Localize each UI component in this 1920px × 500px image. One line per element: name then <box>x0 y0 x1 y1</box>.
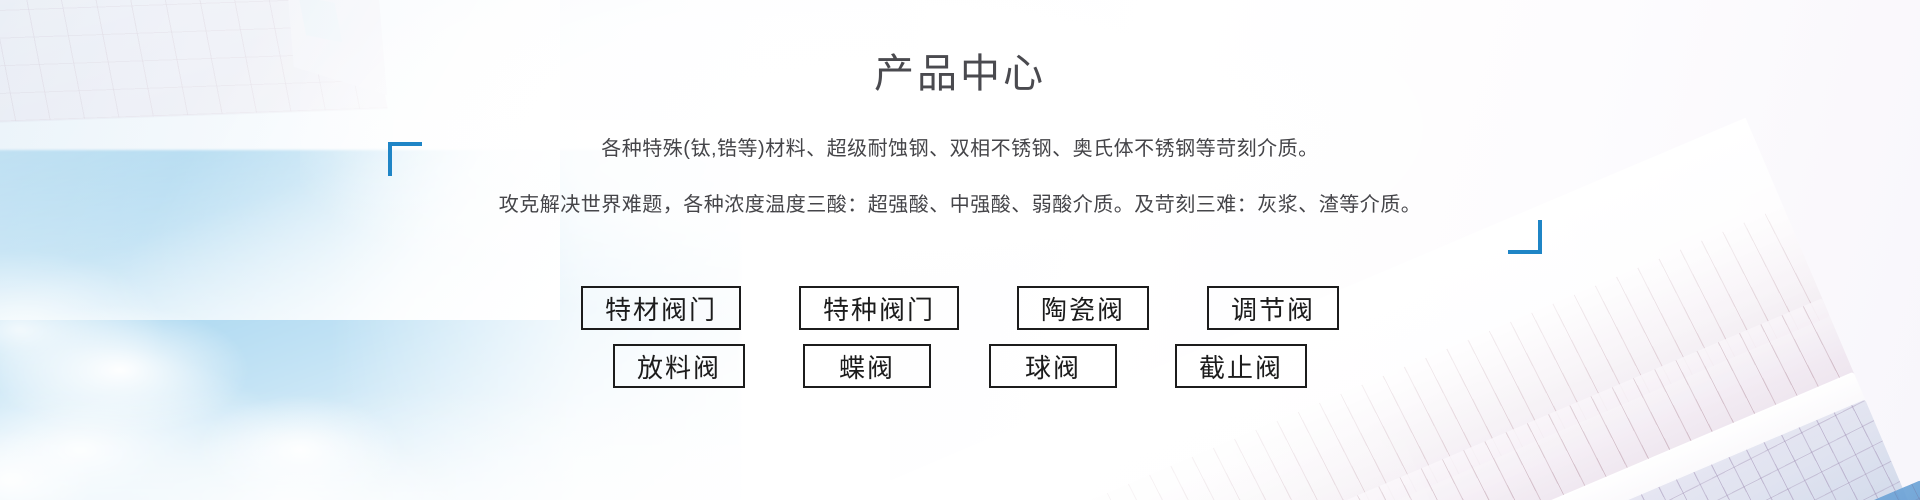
description-line-2: 攻克解决世界难题，各种浓度温度三酸：超强酸、中强酸、弱酸介质。及苛刻三难：灰浆、… <box>360 190 1560 220</box>
page-title: 产品中心 <box>0 50 1920 98</box>
description-block: 各种特殊(钛,锆等)材料、超级耐蚀钢、双相不锈钢、奥氏体不锈钢等苛刻介质。 攻克… <box>360 128 1560 220</box>
banner-content: 产品中心 各种特殊(钛,锆等)材料、超级耐蚀钢、双相不锈钢、奥氏体不锈钢等苛刻介… <box>0 0 1920 500</box>
category-button-butterfly-valve[interactable]: 蝶阀 <box>803 344 931 388</box>
description-line-1: 各种特殊(钛,锆等)材料、超级耐蚀钢、双相不锈钢、奥氏体不锈钢等苛刻介质。 <box>360 134 1560 164</box>
category-button-discharge-valve[interactable]: 放料阀 <box>613 344 745 388</box>
bracket-bottom-right-icon <box>1508 220 1542 254</box>
category-button-special-material-valve[interactable]: 特材阀门 <box>581 286 741 330</box>
category-row-1: 特材阀门 特种阀门 陶瓷阀 调节阀 <box>0 286 1920 330</box>
category-button-special-type-valve[interactable]: 特种阀门 <box>799 286 959 330</box>
category-row-2: 放料阀 蝶阀 球阀 截止阀 <box>0 344 1920 388</box>
category-button-control-valve[interactable]: 调节阀 <box>1207 286 1339 330</box>
category-button-ceramic-valve[interactable]: 陶瓷阀 <box>1017 286 1149 330</box>
category-button-grid: 特材阀门 特种阀门 陶瓷阀 调节阀 放料阀 蝶阀 球阀 截止阀 <box>0 286 1920 402</box>
category-button-ball-valve[interactable]: 球阀 <box>989 344 1117 388</box>
category-button-globe-valve[interactable]: 截止阀 <box>1175 344 1307 388</box>
product-center-banner: 产品中心 各种特殊(钛,锆等)材料、超级耐蚀钢、双相不锈钢、奥氏体不锈钢等苛刻介… <box>0 0 1920 500</box>
bracket-top-left-icon <box>388 142 422 176</box>
